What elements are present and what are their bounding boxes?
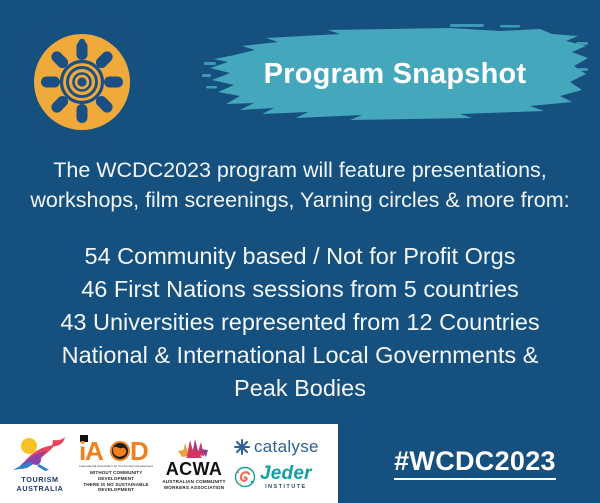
catalyse-logo: catalyse — [234, 437, 319, 457]
tourism-australia-mark — [9, 434, 71, 474]
stat-line-governments: National & International Local Governmen… — [6, 339, 594, 372]
jeder-wordmark: Jeder — [260, 464, 312, 483]
stat-line-community-orgs: 54 Community based / Not for Profit Orgs — [6, 240, 594, 273]
intro-line-2: workshops, film screenings, Yarning circ… — [12, 185, 588, 215]
sponsor-logo-strip: TOURISM AUSTRALIA i A D International As… — [0, 424, 338, 503]
stat-line-first-nations: 46 First Nations sessions from 5 countri… — [6, 273, 594, 306]
intro-line-1: The WCDC2023 program will feature presen… — [12, 155, 588, 185]
tourism-australia-logo: TOURISM AUSTRALIA — [6, 434, 74, 493]
iacd-tagline-line-2: THERE IS NO SUSTAINABLE DEVELOPMENT — [78, 482, 154, 493]
catalyse-starburst-icon — [234, 439, 250, 455]
tourism-australia-line-2: AUSTRALIA — [17, 484, 64, 493]
event-hashtag: #WCDC2023 — [370, 446, 580, 477]
right-sponsor-column: catalyse Jeder INSTITUTE — [234, 437, 319, 491]
acwa-logo: ACWA AUSTRALIAN COMMUNITY WORKERS ASSOCI… — [158, 437, 230, 491]
jeder-subtitle: INSTITUTE — [265, 483, 307, 491]
svg-text:D: D — [130, 436, 149, 464]
svg-text:A: A — [85, 436, 104, 464]
intro-paragraph: The WCDC2023 program will feature presen… — [12, 155, 588, 215]
jeder-institute-logo: Jeder INSTITUTE — [234, 464, 319, 491]
statistics-list: 54 Community based / Not for Profit Orgs… — [6, 240, 594, 405]
acwa-starburst-icon — [174, 437, 214, 459]
event-hashtag-label: #WCDC2023 — [394, 446, 556, 480]
jeder-spiral-icon — [234, 466, 256, 488]
program-snapshot-banner: Program Snapshot — [200, 22, 590, 126]
iacd-wordmark: i A D — [78, 434, 154, 464]
acwa-wordmark: ACWA — [166, 459, 223, 479]
iacd-tagline-line-1: WITHOUT COMMUNITY DEVELOPMENT — [78, 470, 154, 481]
banner-title: Program Snapshot — [200, 22, 590, 126]
iacd-subtitle: International Association for Community … — [78, 464, 154, 468]
tourism-australia-line-1: TOURISM — [17, 475, 64, 484]
catalyse-wordmark: catalyse — [254, 437, 319, 457]
stat-line-peak-bodies: Peak Bodies — [6, 372, 594, 405]
iacd-logo: i A D International Association for Comm… — [76, 434, 156, 492]
acwa-subtitle-line-2: WORKERS ASSOCIATION — [162, 485, 225, 491]
poster-canvas: COMMUNITY CONNECTION CULTURE — [0, 0, 600, 503]
community-connection-culture-logo: COMMUNITY CONNECTION CULTURE — [8, 8, 156, 156]
stat-line-universities: 43 Universities represented from 12 Coun… — [6, 306, 594, 339]
acwa-subtitle-line-1: AUSTRALIAN COMMUNITY — [162, 479, 225, 485]
